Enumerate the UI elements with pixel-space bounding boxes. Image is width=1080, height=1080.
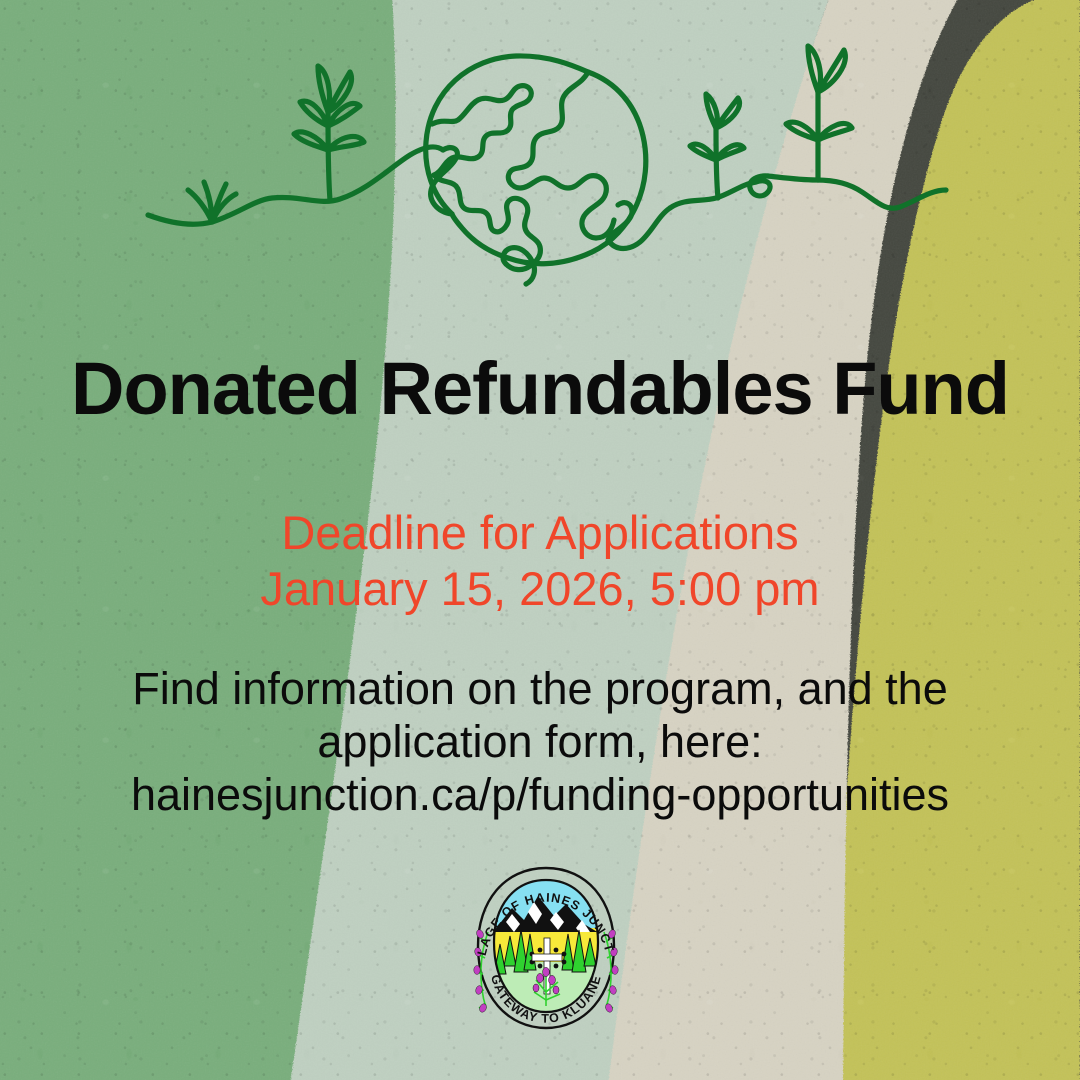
page-title: Donated Refundables Fund [0, 352, 1080, 426]
village-of-haines-junction-crest-logo: VILLAGE OF HAINES JUNCTION GATEWAY TO KL… [466, 862, 626, 1047]
deadline-block: Deadline for Applications January 15, 20… [0, 505, 1080, 617]
body-line-1: Find information on the program, and the [0, 662, 1080, 715]
body-block: Find information on the program, and the… [0, 662, 1080, 821]
program-url-link[interactable]: hainesjunction.ca/p/funding-opportunitie… [0, 768, 1080, 821]
body-line-2: application form, here: [0, 715, 1080, 768]
deadline-date: January 15, 2026, 5:00 pm [0, 561, 1080, 617]
deadline-label: Deadline for Applications [0, 505, 1080, 561]
poster-canvas: Donated Refundables Fund Deadline for Ap… [0, 0, 1080, 1080]
globe-sprouts-line-art-icon [0, 0, 1080, 300]
